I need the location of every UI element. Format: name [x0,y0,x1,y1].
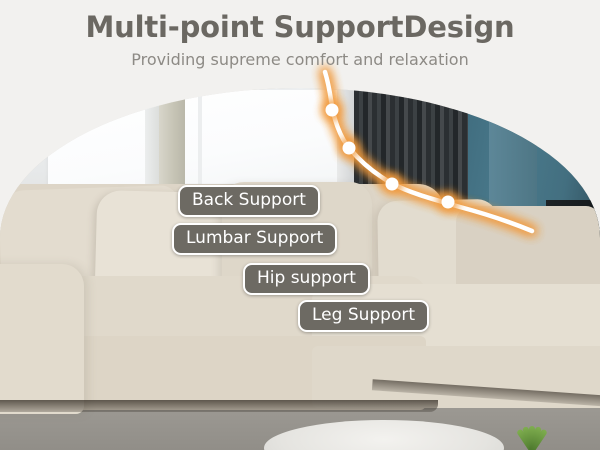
page-title: Multi-point SupportDesign [0,0,600,43]
page-subtitle: Providing supreme comfort and relaxation [0,43,600,69]
plant [494,416,564,450]
label-lumbar-support[interactable]: Lumbar Support [172,223,337,255]
support-point-back[interactable] [326,104,339,117]
label-leg-support[interactable]: Leg Support [298,300,429,332]
support-point-leg[interactable] [442,196,455,209]
label-hip-support[interactable]: Hip support [243,263,370,295]
label-back-support[interactable]: Back Support [178,185,320,217]
sofa-shadow [0,400,438,412]
support-point-lumbar[interactable] [343,142,356,155]
support-design-banner: Multi-point SupportDesign Providing supr… [0,0,600,450]
header: Multi-point SupportDesign Providing supr… [0,0,600,88]
support-point-hip[interactable] [386,178,399,191]
